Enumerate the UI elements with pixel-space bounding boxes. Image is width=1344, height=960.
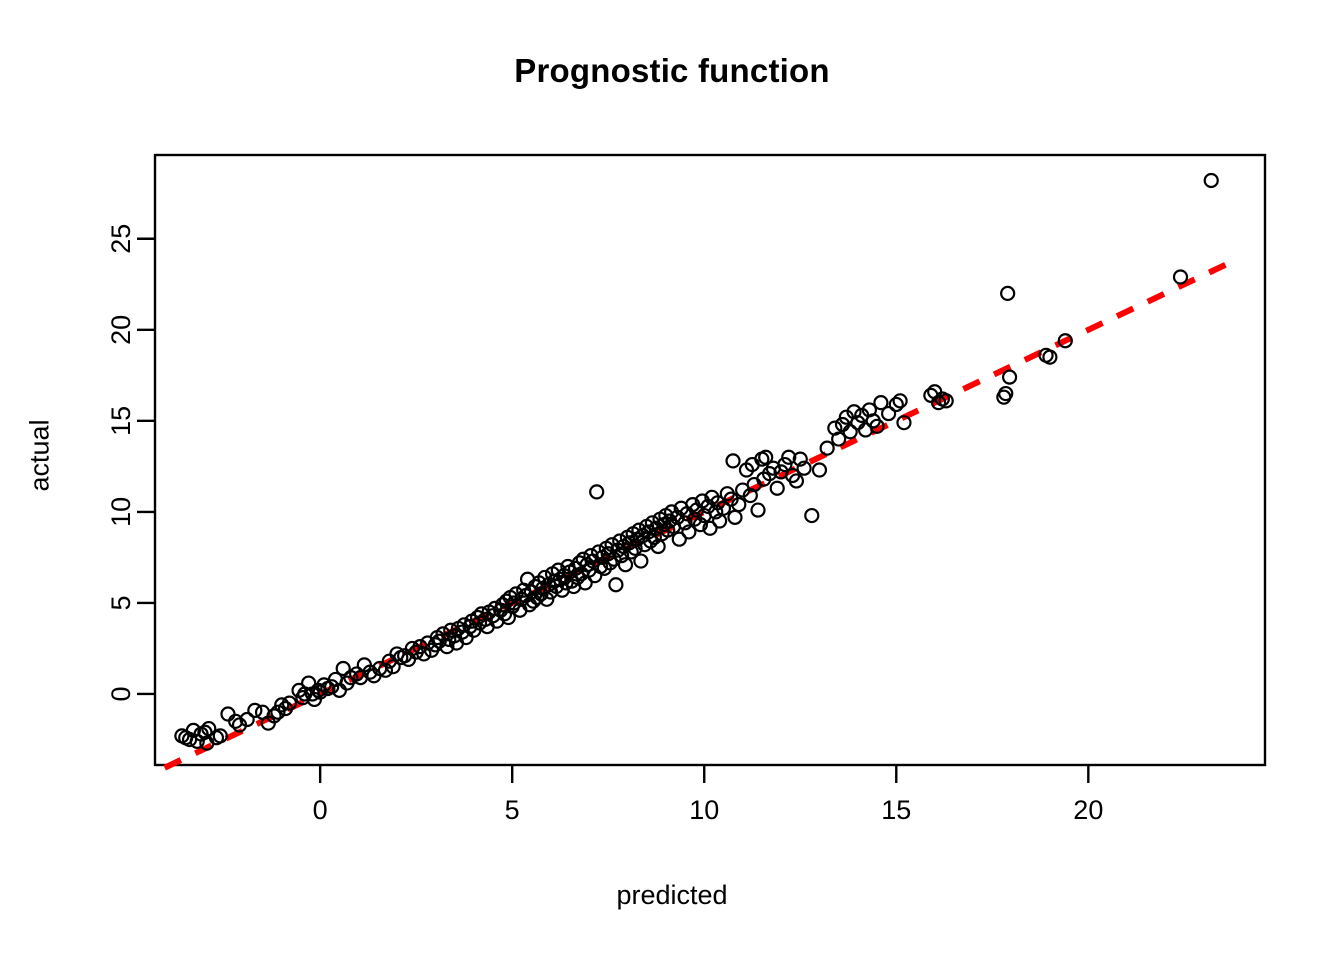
- chart-figure: Prognostic function 05101520 0510152025 …: [0, 0, 1344, 960]
- x-tick-label: 20: [1073, 795, 1103, 825]
- scatter-point: [894, 394, 907, 407]
- y-axis: 0510152025: [106, 224, 155, 702]
- x-tick-label: 5: [505, 795, 520, 825]
- x-tick-label: 0: [313, 795, 328, 825]
- plot-frame: [155, 155, 1265, 765]
- scatter-point: [1001, 287, 1014, 300]
- x-axis: 05101520: [313, 765, 1104, 825]
- y-tick-label: 20: [106, 315, 136, 345]
- x-tick-label: 15: [881, 795, 911, 825]
- scatter-point: [890, 398, 903, 411]
- y-tick-label: 25: [106, 224, 136, 254]
- scatter-point: [728, 511, 741, 524]
- y-tick-label: 15: [106, 406, 136, 436]
- y-tick-label: 0: [106, 686, 136, 701]
- scatter-point: [805, 509, 818, 522]
- scatter-point: [752, 504, 765, 517]
- scatter-point: [634, 555, 647, 568]
- y-tick-label: 10: [106, 497, 136, 527]
- scatter-point: [821, 442, 834, 455]
- scatter-point: [813, 464, 826, 477]
- scatter-point: [590, 485, 603, 498]
- scatter-point: [1003, 371, 1016, 384]
- scatter-points: [175, 174, 1217, 750]
- y-axis-label: actual: [25, 356, 56, 556]
- scatter-point: [727, 454, 740, 467]
- scatter-point: [771, 482, 784, 495]
- scatter-point: [1205, 174, 1218, 187]
- x-tick-label: 10: [689, 795, 719, 825]
- scatter-point: [609, 578, 622, 591]
- x-axis-label: predicted: [0, 880, 1344, 911]
- scatter-point: [221, 708, 234, 721]
- scatter-point: [1174, 271, 1187, 284]
- y-tick-label: 5: [106, 595, 136, 610]
- plot-canvas: 05101520 0510152025: [0, 0, 1344, 960]
